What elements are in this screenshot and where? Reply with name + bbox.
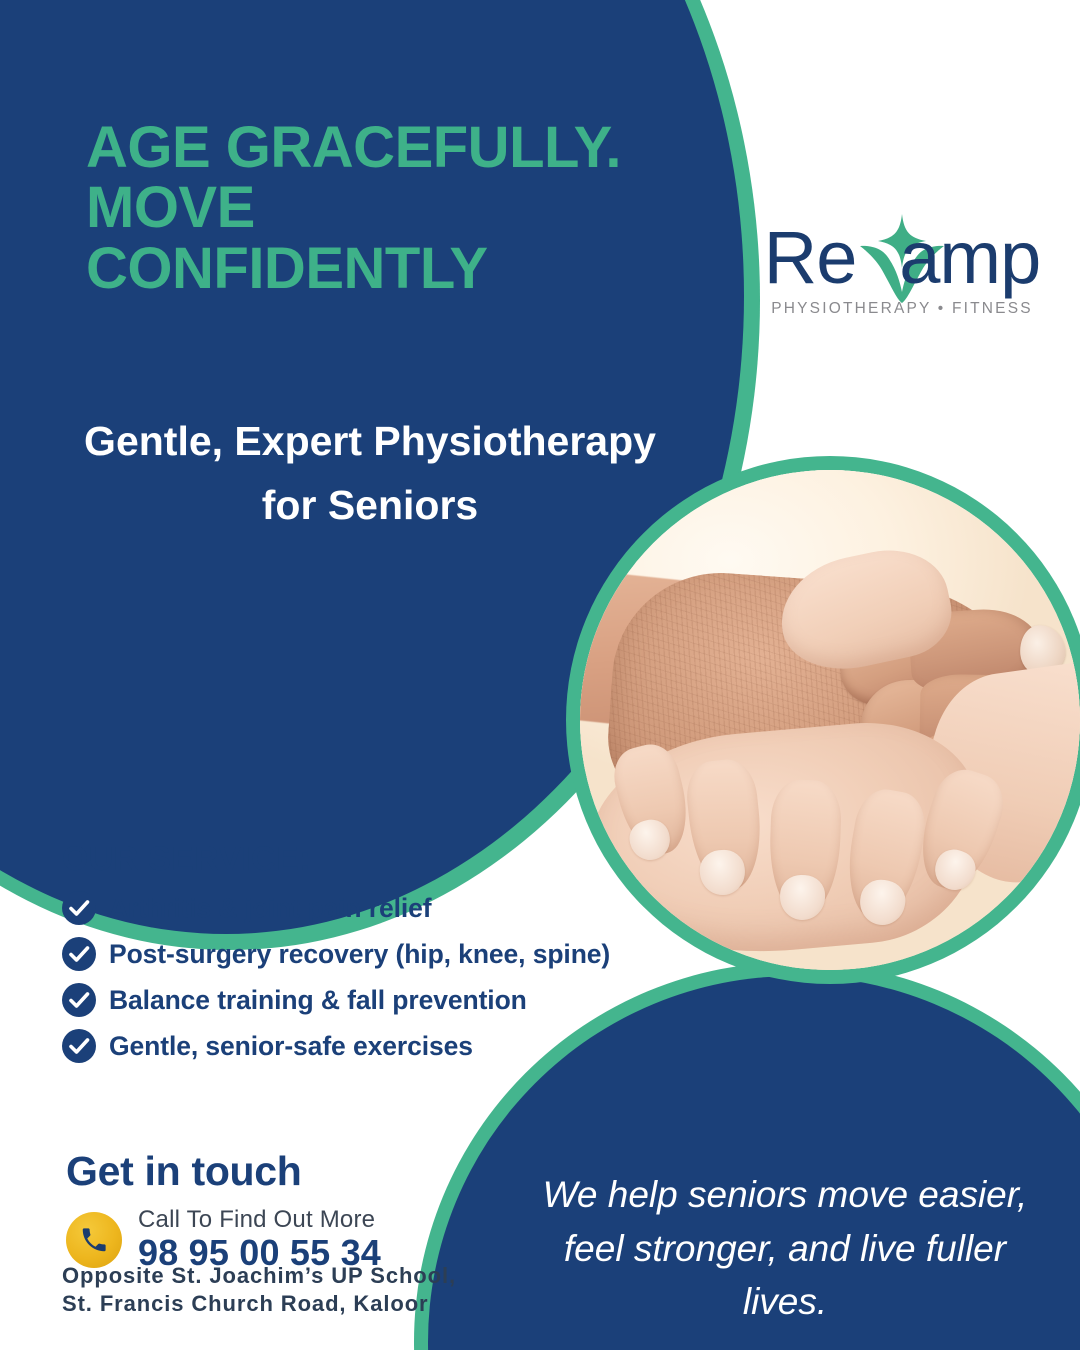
address: Opposite St. Joachim’s UP School, St. Fr…: [62, 1262, 492, 1317]
check-circle-icon: [62, 983, 96, 1017]
services-section: OUR SERVICE: Arthritis & joint pain reli…: [62, 840, 662, 1075]
service-label: Balance training & fall prevention: [109, 985, 527, 1016]
service-item: Post-surgery recovery (hip, knee, spine): [62, 937, 662, 971]
logo-word-part-v: V: [856, 216, 899, 299]
logo-word-part-3: amp: [899, 216, 1040, 299]
phone-icon-badge: [66, 1212, 122, 1268]
services-title: OUR SERVICE:: [62, 840, 662, 879]
check-circle-icon: [62, 891, 96, 925]
service-item: Gentle, senior-safe exercises: [62, 1029, 662, 1063]
phone-icon: [79, 1225, 109, 1255]
call-label: Call To Find Out More: [138, 1207, 381, 1232]
check-circle-icon: [62, 1029, 96, 1063]
logo-word-part-1: Re: [764, 216, 857, 299]
poster-canvas: AGE GRACEFULLY. MOVE CONFIDENTLY Gentle,…: [0, 0, 1080, 1350]
logo-wordmark: ReVamp: [752, 212, 1052, 304]
service-label: Gentle, senior-safe exercises: [109, 1031, 473, 1062]
service-label: Post-surgery recovery (hip, knee, spine): [109, 939, 610, 970]
subheadline: Gentle, Expert Physiotherapy for Seniors: [70, 410, 670, 537]
service-label: Arthritis & joint pain relief: [109, 893, 432, 924]
logo-mark: ReVamp: [752, 212, 1052, 304]
tagline: We help seniors move easier, feel strong…: [520, 1168, 1050, 1329]
headline: AGE GRACEFULLY. MOVE CONFIDENTLY: [86, 118, 646, 299]
check-circle-icon: [62, 937, 96, 971]
contact-section: Get in touch Call To Find Out More 98 95…: [66, 1148, 546, 1274]
service-item: Balance training & fall prevention: [62, 983, 662, 1017]
brand-logo: ReVamp PHYSIOTHERAPY • FITNESS: [752, 212, 1052, 318]
get-in-touch-heading: Get in touch: [66, 1148, 546, 1195]
service-item: Arthritis & joint pain relief: [62, 891, 662, 925]
